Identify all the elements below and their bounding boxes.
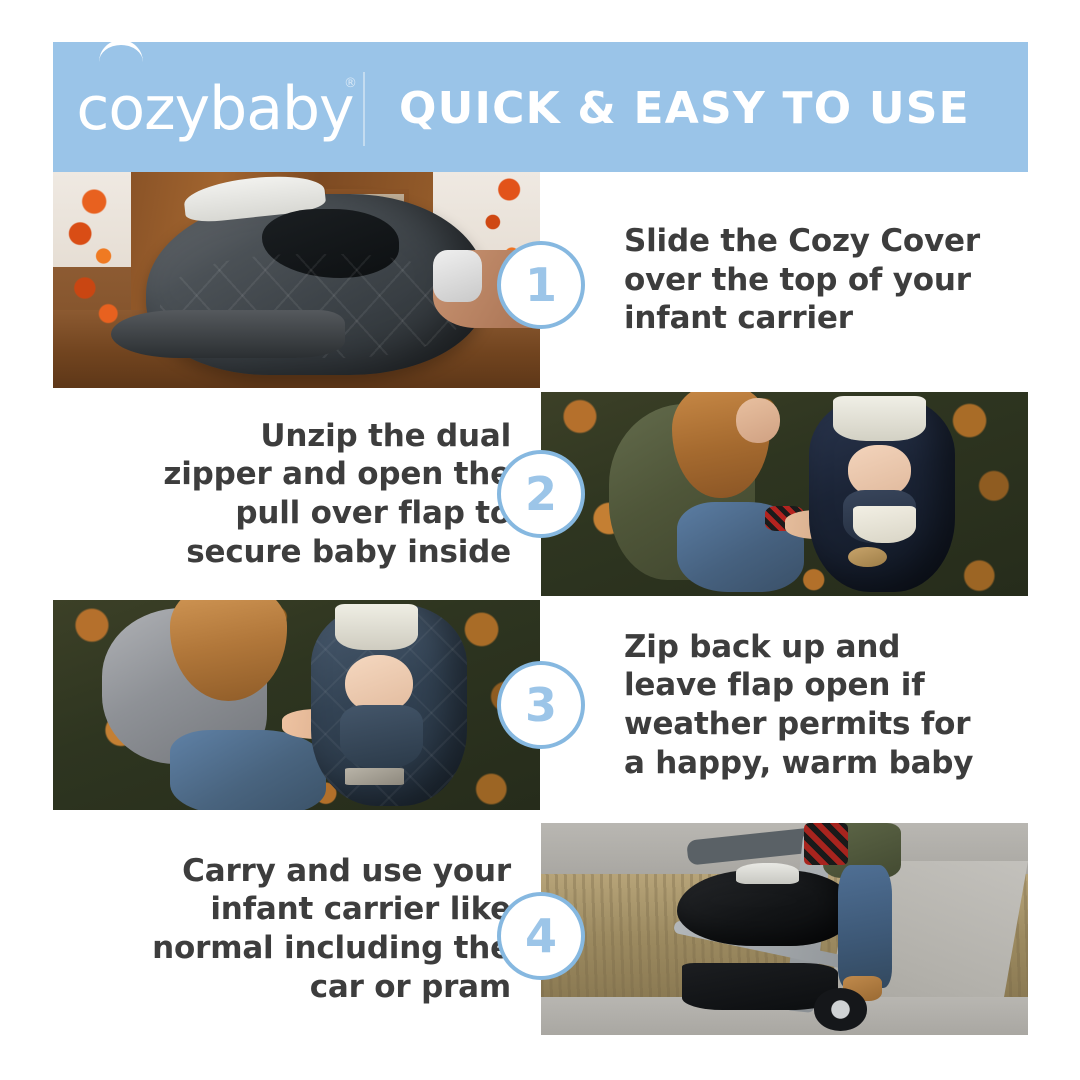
step-text: Unzip the dual zipper and open the pull … (79, 417, 511, 572)
step-number: 1 (525, 262, 557, 308)
header-divider (363, 72, 365, 146)
step-copy-1: Slide the Cozy Cover over the top of you… (540, 172, 1028, 388)
step-copy-3: Zip back up and leave flap open if weath… (540, 600, 1028, 810)
logo-smile-arc-icon (99, 40, 143, 65)
step-badge-4: 4 (497, 892, 585, 980)
registered-trademark-icon: ® (344, 76, 357, 91)
step-badge-2: 2 (497, 450, 585, 538)
step-number: 3 (525, 682, 557, 728)
step-badge-3: 3 (497, 661, 585, 749)
step-photo-1 (53, 172, 540, 388)
step-text: Zip back up and leave flap open if weath… (624, 628, 1002, 783)
header-band: cozybaby ® QUICK & EASY TO USE (53, 42, 1028, 175)
step-copy-4: Carry and use your infant carrier like n… (53, 823, 541, 1035)
step-copy-2: Unzip the dual zipper and open the pull … (53, 392, 541, 596)
step-photo-4 (541, 823, 1028, 1035)
step-text: Carry and use your infant carrier like n… (79, 852, 511, 1007)
step-text: Slide the Cozy Cover over the top of you… (624, 222, 1002, 338)
step-number: 4 (525, 913, 557, 959)
infographic-page: cozybaby ® QUICK & EASY TO USE (0, 0, 1080, 1080)
step-badge-1: 1 (497, 241, 585, 329)
brand-logo: cozybaby ® (53, 42, 363, 175)
step-photo-2 (541, 392, 1028, 596)
brand-logo-text: cozybaby (62, 79, 353, 139)
step-photo-3 (53, 600, 540, 810)
page-title: QUICK & EASY TO USE (399, 83, 970, 134)
step-number: 2 (525, 471, 557, 517)
